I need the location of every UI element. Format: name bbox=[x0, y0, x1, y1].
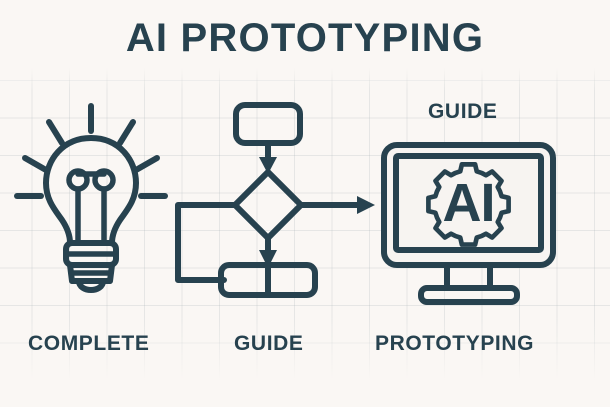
monitor-ai-icon: AI bbox=[384, 145, 553, 302]
flowchart-arrowhead-top bbox=[259, 157, 277, 174]
monitor-screen bbox=[396, 156, 541, 250]
gear-ai-label: AI bbox=[443, 173, 495, 233]
lightbulb-rays bbox=[17, 106, 165, 196]
lightbulb-glass bbox=[46, 138, 136, 243]
caption-guide: GUIDE bbox=[234, 333, 304, 354]
flowchart-node-top bbox=[236, 105, 300, 143]
monitor-bezel bbox=[384, 145, 553, 265]
caption-complete: COMPLETE bbox=[28, 333, 149, 354]
lightbulb-base bbox=[66, 243, 116, 290]
flowchart-node-bottom bbox=[221, 265, 315, 295]
flowchart-decision-diamond bbox=[235, 172, 301, 238]
lightbulb-filament bbox=[69, 171, 113, 243]
caption-prototyping: PROTOTYPING bbox=[375, 333, 534, 354]
page-title: AI PROTOTYPING bbox=[0, 18, 610, 58]
flowchart-arrowhead-right bbox=[357, 196, 375, 214]
label-guide-top: GUIDE bbox=[428, 101, 498, 122]
monitor-stand-neck bbox=[447, 265, 490, 288]
lightbulb-icon bbox=[17, 106, 165, 290]
flowchart-feedback-loop bbox=[178, 205, 235, 280]
flowchart-icon bbox=[178, 105, 375, 295]
monitor-stand-base bbox=[421, 288, 517, 302]
flowchart-arrowhead-bottom bbox=[259, 250, 277, 268]
gear-icon: AI bbox=[428, 164, 508, 244]
poster-canvas: AI PROTOTYPING GUIDE bbox=[0, 0, 610, 407]
